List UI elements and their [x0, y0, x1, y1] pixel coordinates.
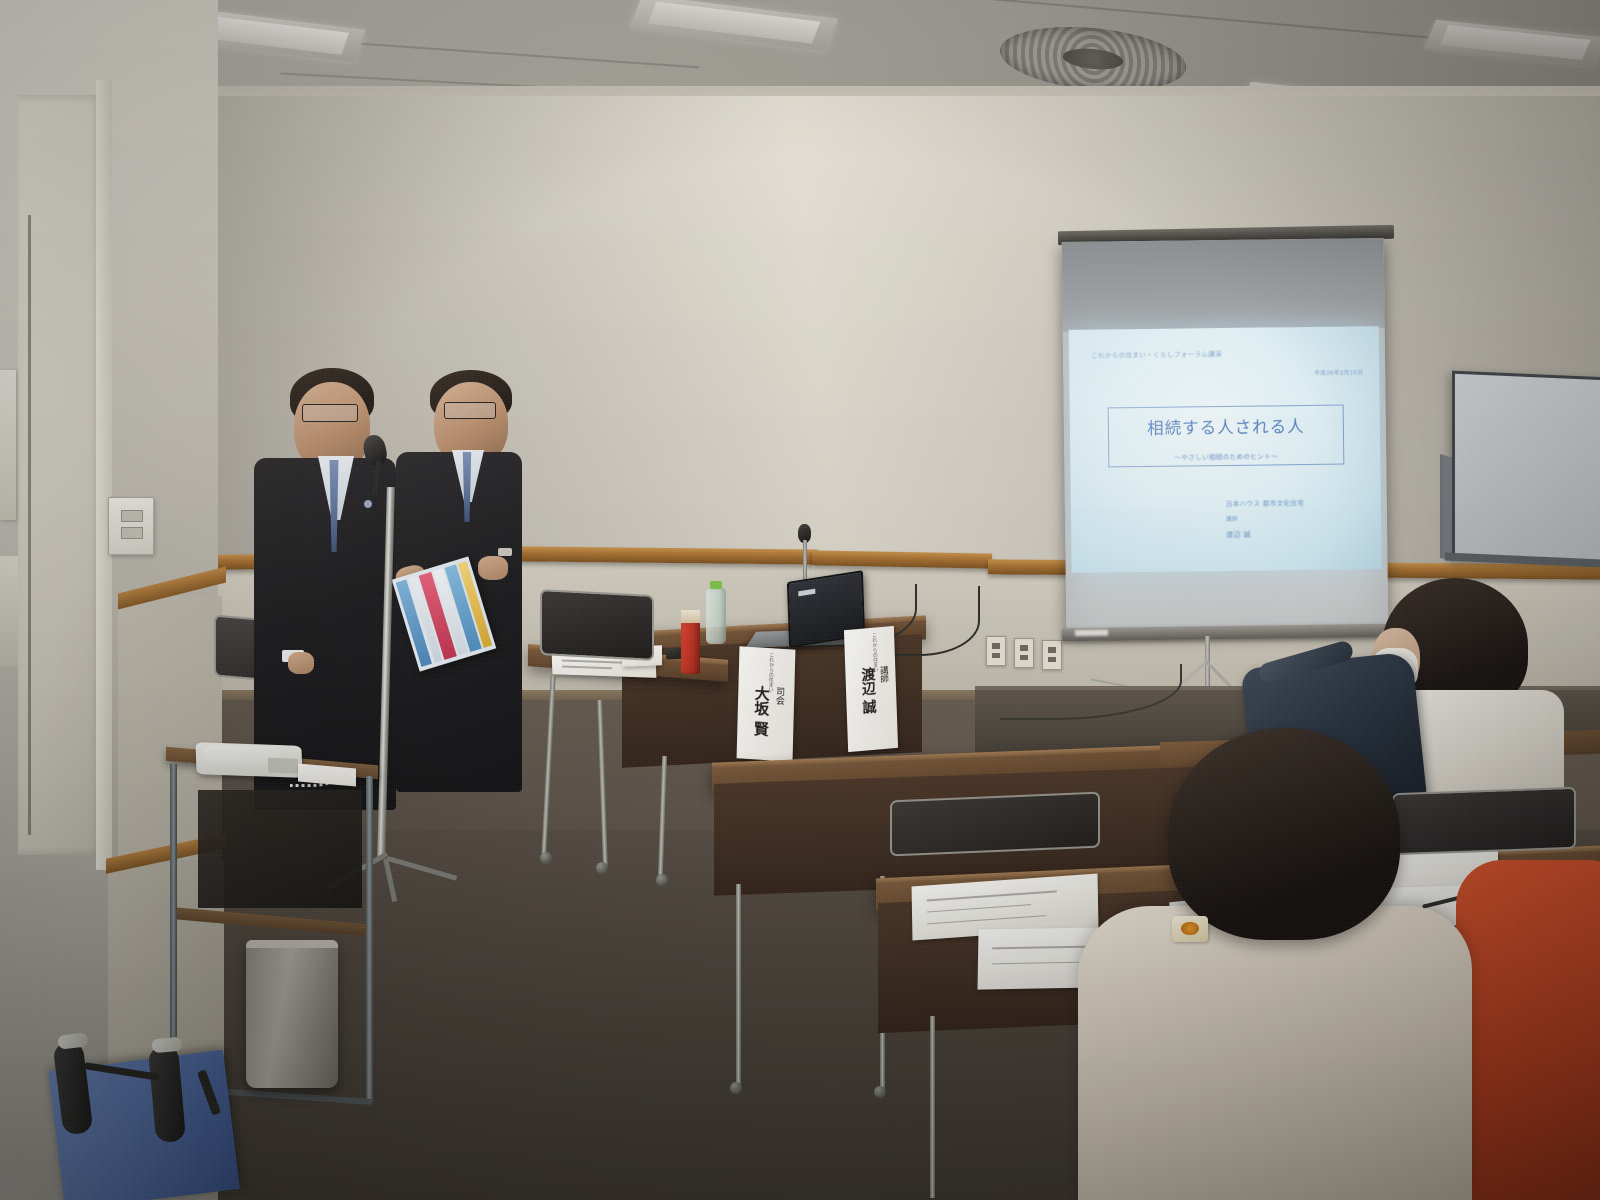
placard-name: 大坂 賢 [751, 685, 773, 736]
table-leg [736, 884, 741, 1084]
name-badge [1172, 916, 1208, 942]
chair-rail-trim [516, 546, 818, 564]
whiteboard [1452, 371, 1600, 568]
name-placard: これからの住まい 司会 大坂 賢 [737, 646, 796, 761]
desk-telephone[interactable] [195, 742, 302, 778]
water-bottle[interactable] [706, 588, 726, 644]
placard-role: 司会 [773, 686, 786, 705]
eyeglasses-icon [444, 402, 496, 419]
table-caster [874, 1086, 886, 1098]
placard-role: 講師 [877, 665, 890, 683]
ceiling-light-troffer [1424, 20, 1600, 67]
waste-bin [246, 940, 338, 1088]
wall-outlet[interactable] [986, 636, 1006, 666]
wristwatch-icon [498, 548, 512, 556]
hand [288, 652, 314, 674]
torso [1078, 906, 1472, 1200]
slide-date-text: 平成26年2月15日 [1314, 368, 1363, 377]
red-bottle[interactable] [681, 620, 700, 674]
seminar-room-photo: これからの住まい・くらしフォーラム講演 平成26年2月15日 相続する人される人… [0, 0, 1600, 1200]
eyeglasses-icon [302, 404, 358, 422]
projected-slide: これからの住まい・くらしフォーラム講演 平成26年2月15日 相続する人される人… [1069, 326, 1381, 573]
chair-rail-trim [812, 550, 992, 568]
table-leg [930, 1016, 935, 1198]
name-placard: これからの住まい 講師 渡辺 誠 [844, 626, 898, 752]
table-caster [596, 862, 608, 874]
light-switch[interactable] [108, 497, 154, 555]
projection-screen: これからの住まい・くらしフォーラム講演 平成26年2月15日 相続する人される人… [1058, 228, 1390, 640]
door-jamb [96, 80, 112, 870]
chair[interactable] [1392, 787, 1576, 855]
torso [1456, 860, 1600, 1200]
screen-surface: これからの住まい・くらしフォーラム講演 平成26年2月15日 相続する人される人… [1062, 238, 1389, 634]
placard-name: 渡辺 誠 [857, 666, 879, 715]
screen-unlit-area [1062, 238, 1385, 332]
slide-organization-text: 日本ハウス 都市文化住宅 [1226, 497, 1304, 508]
hand [478, 556, 508, 580]
ceiling-light-troffer [630, 0, 838, 51]
wall-notice [0, 370, 16, 520]
table-caster [540, 852, 552, 864]
slide-header-text: これからの住まい・くらしフォーラム講演 [1091, 348, 1222, 360]
table-caster [730, 1082, 742, 1094]
table-caster [656, 874, 668, 886]
slide-presenter-name-text: 渡辺 誠 [1226, 530, 1251, 540]
slide-subtitle-text: ～やさしい相続のためのヒント～ [1109, 449, 1344, 462]
slide-role-text: 講師 [1226, 515, 1238, 523]
chair[interactable] [890, 792, 1100, 857]
slide-title-text: 相続する人される人 [1108, 412, 1343, 439]
stored-equipment [198, 790, 362, 908]
laptop-logo [798, 588, 815, 596]
slide-title-box: 相続する人される人 ～やさしい相続のためのヒント～ [1107, 404, 1345, 467]
lapel-pin-icon [364, 500, 372, 508]
wall-notice [0, 556, 18, 666]
side-table-leg [366, 776, 373, 1102]
chair[interactable] [540, 589, 654, 661]
hair [1168, 728, 1400, 940]
door-gap [28, 215, 31, 835]
